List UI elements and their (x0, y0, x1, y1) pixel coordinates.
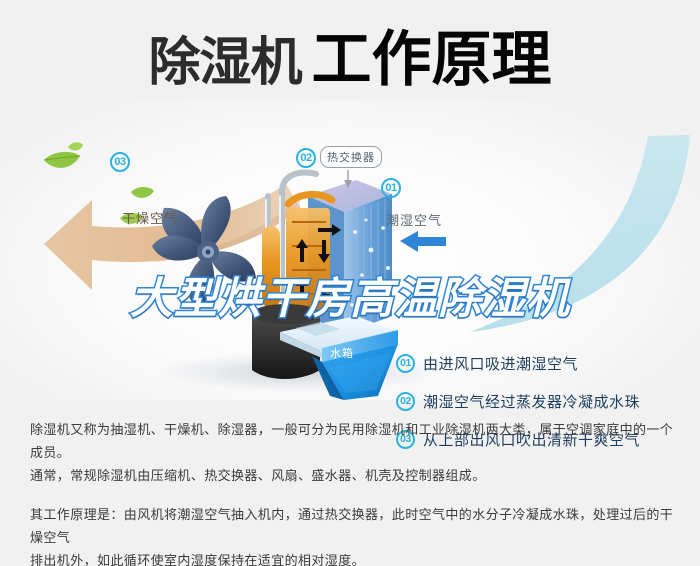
intake-arrow (400, 231, 446, 252)
legend-badge-01: 01 (396, 354, 415, 373)
paragraph-2: 其工作原理是：由风机将潮湿空气抽入机内，通过热交换器，此时空气中的水分子冷凝成水… (30, 503, 674, 566)
humid-air-stream (470, 135, 690, 332)
dry-air-label: 干燥空气 (122, 208, 178, 227)
heat-exchanger-callout: 热交换器 (320, 146, 382, 168)
page-title-part2: 工作原理 (312, 26, 552, 93)
legend-text-01: 由进风口吸进潮湿空气 (423, 353, 578, 374)
legend-text-02: 潮湿空气经过蒸发器冷凝成水珠 (423, 391, 640, 412)
paragraph-1: 除湿机又称为抽湿机、干燥机、除湿器，一般可分为民用除湿机和工业除湿机两大类，属于… (30, 418, 674, 487)
legend-badge-02: 02 (396, 392, 415, 411)
list-item: 01 由进风口吸进潮湿空气 (396, 344, 696, 382)
water-tank-label: 水箱 (330, 345, 354, 361)
paragraph-1-line-2: 通常，常规除湿机由压缩机、热交换器、风扇、盛水器、机壳及控制器组成。 (30, 468, 486, 483)
infographic-page: 除湿机工作原理 (0, 0, 700, 566)
diagram-badge-01: 01 (381, 178, 401, 198)
paragraph-2-line-1: 其工作原理是：由风机将潮湿空气抽入机内，通过热交换器，此时空气中的水分子冷凝成水… (30, 507, 673, 545)
list-item: 02 潮湿空气经过蒸发器冷凝成水珠 (396, 382, 696, 420)
paragraph-1-line-1: 除湿机又称为抽湿机、干燥机、除湿器，一般可分为民用除湿机和工业除湿机两大类，属于… (30, 422, 673, 460)
page-title-part1: 除湿机 (148, 34, 301, 92)
paragraph-2-line-2: 排出机外，如此循环使室内湿度保持在适宜的相对湿度。 (30, 553, 365, 566)
body-copy: 除湿机又称为抽湿机、干燥机、除湿器，一般可分为民用除湿机和工业除湿机两大类，属于… (30, 418, 674, 566)
diagram-badge-02: 02 (296, 148, 316, 168)
diagram-badge-03: 03 (110, 152, 130, 172)
humid-air-label: 潮湿空气 (386, 210, 442, 229)
dehumidifier-diagram: 03 02 01 干燥空气 潮湿空气 水箱 热交换器 01 由进风口吸进潮湿空气… (0, 100, 700, 400)
page-title: 除湿机工作原理 (0, 30, 700, 90)
